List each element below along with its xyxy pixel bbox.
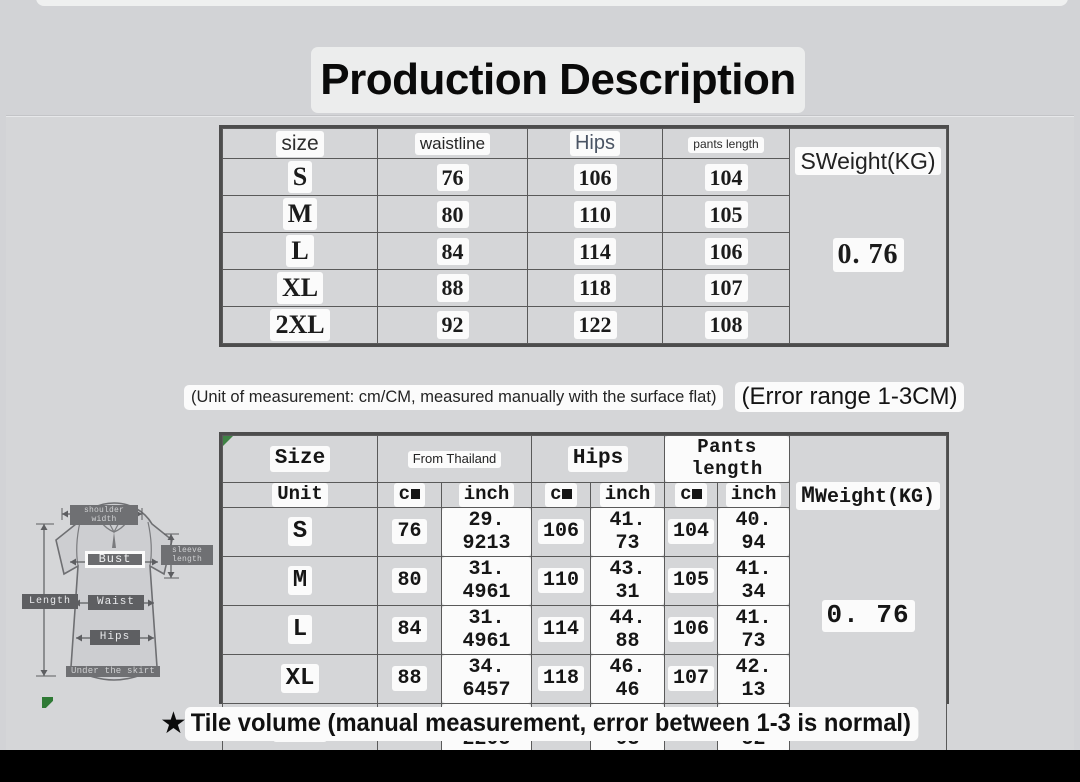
cell-pants-length: 107 [663,270,790,307]
cell-waist-inch: 31. 4961 [442,605,532,654]
header-cell-size: Size [223,436,378,483]
cell-hips-inch: 46. 46 [591,654,665,703]
hips-cm-value: 118 [538,666,584,691]
hips-cm-value: 110 [538,568,584,593]
table-header-row: Size From Thailand Hips Pants length MWe… [223,436,947,483]
cell-unit-hips-cm: c [532,482,591,507]
cell-pants-inch: 41. 34 [718,556,790,605]
waist-inch-value: 34. 6457 [442,655,531,703]
pants-inch-value: 42. 13 [718,655,789,703]
hips-cm-value: 106 [538,519,584,544]
header-cell-waistline: waistline [378,129,528,159]
hips-value: 114 [574,238,616,265]
size-table-cm: size waistline Hips pants length SWeight… [219,125,949,347]
cell-hips: 110 [528,196,663,233]
cell-size: XL [223,270,378,307]
unit-of-measurement-note: (Unit of measurement: cm/CM, measured ma… [184,385,723,410]
header-label-waistline: waistline [415,133,490,155]
unit-cm: c [394,483,426,507]
cell-unit-waist-cm: c [378,482,442,507]
top-edge-strip [36,0,1068,6]
cell-size: M [223,556,378,605]
header-label-weight: MWeight(KG) [796,482,940,510]
cell-hips: 106 [528,159,663,196]
cell-hips-inch: 44. 88 [591,605,665,654]
size-label: S [288,161,312,193]
cell-hips-inch: 41. 73 [591,507,665,556]
cell-size: S [223,159,378,196]
cell-pants-inch: 42. 13 [718,654,790,703]
size-label: 2XL [270,309,329,341]
product-description-page: Production Description size waistline Hi… [0,0,1080,782]
cell-size: XL [223,654,378,703]
diagram-label-bust: Bust [88,554,142,565]
cell-unit-pants-cm: c [665,482,718,507]
cell-hips: 114 [528,233,663,270]
diagram-label-shoulder-width: shoulder width [70,505,138,525]
waist-inch-value: 31. 4961 [442,557,531,605]
hips-value: 118 [574,274,616,301]
cell-waist-cm: 88 [378,654,442,703]
header-label-size: size [276,131,323,157]
garment-measurement-diagram: shoulder width sleeve length Bust Waist … [14,462,214,710]
pants-length-value: 106 [705,238,748,265]
header-cell-pants-length: Pants length [665,436,790,483]
hips-cm-value: 114 [538,617,584,642]
header-cell-pants-length: pants length [663,129,790,159]
hips-value: 122 [574,311,617,338]
header-label-pants-length: Pants length [665,436,789,482]
weight-value: 0. 76 [822,600,915,632]
waist-cm-value: 80 [392,568,426,593]
waistline-value: 76 [437,164,469,191]
cell-waist-inch: 31. 4961 [442,556,532,605]
waist-inch-value: 31. 4961 [442,606,531,654]
sleeve-length-line-2: length [172,555,202,564]
pants-length-value: 108 [705,311,748,338]
pants-inch-value: 41. 73 [718,606,789,654]
header-cell-from-thailand: From Thailand [378,436,532,483]
pants-inch-value: 41. 34 [718,557,789,605]
hips-value: 106 [574,164,617,191]
cell-waistline: 76 [378,159,528,196]
weight-value: 0. 76 [833,238,904,272]
cell-pants-cm: 104 [665,507,718,556]
cell-waist-inch: 29. 9213 [442,507,532,556]
waist-cm-value: 88 [392,666,426,691]
size-label: S [288,517,312,547]
cell-waist-cm: 76 [378,507,442,556]
cell-pants-length: 106 [663,233,790,270]
tile-volume-text: Tile volume (manual measurement, error b… [185,707,919,741]
cell-pants-length: 105 [663,196,790,233]
diagram-label-hips: Hips [90,630,140,645]
header-label-hips: Hips [568,446,628,472]
cell-hips-cm: 106 [532,507,591,556]
header-cell-hips: Hips [532,436,665,483]
pants-cm-value: 104 [668,519,714,544]
waistline-value: 88 [437,274,469,301]
waist-inch-value: 29. 9213 [442,508,531,556]
measurement-note-row: (Unit of measurement: cm/CM, measured ma… [184,382,964,412]
cell-hips: 122 [528,307,663,344]
header-cell-hips: Hips [528,129,663,159]
hips-inch-value: 41. 73 [591,508,664,556]
cell-hips-cm: 110 [532,556,591,605]
cell-waistline: 92 [378,307,528,344]
diagram-label-under-the-skirt: Under the skirt [66,666,160,677]
shoulder-width-line-1: shoulder [84,506,124,515]
cell-waist-inch: 34. 6457 [442,654,532,703]
cell-hips-inch: 43. 31 [591,556,665,605]
cell-unit-pants-inch: inch [718,482,790,507]
tile-volume-note: ★ Tile volume (manual measurement, error… [160,707,957,741]
cell-pants-inch: 41. 73 [718,605,790,654]
size-table-cm-inch: Size From Thailand Hips Pants length MWe… [219,432,949,704]
cell-unit-label: Unit [223,482,378,507]
cell-unit-hips-inch: inch [591,482,665,507]
unit-cm: c [545,483,577,507]
pants-cm-value: 107 [668,666,714,691]
cell-pants-cm: 105 [665,556,718,605]
header-label-size: Size [270,446,330,472]
size-label: L [286,235,313,267]
star-icon: ★ [160,709,187,739]
cell-size: S [223,507,378,556]
header-cell-size: size [223,129,378,159]
cell-waistline: 80 [378,196,528,233]
size-label: XL [277,272,323,304]
cell-waist-cm: 84 [378,605,442,654]
waist-cm-value: 84 [392,617,426,642]
pants-cm-value: 105 [668,568,714,593]
pants-length-value: 104 [705,164,748,191]
shoulder-width-line-2: width [91,515,116,524]
diagram-label-length: Length [22,594,78,609]
pants-length-value: 107 [705,274,748,301]
weight-rest: Weight(KG) [815,486,935,509]
cell-pants-cm: 106 [665,605,718,654]
waist-cm-value: 76 [392,519,426,544]
pants-inch-value: 40. 94 [718,508,789,556]
cell-waistline: 88 [378,270,528,307]
waistline-value: 80 [437,201,469,228]
weight-prefix: M [801,483,815,509]
weight-merged-cell: SWeight(KG) 0. 76 [790,129,947,344]
hips-inch-value: 46. 46 [591,655,664,703]
sleeve-length-line-1: sleeve [172,546,202,555]
table-header-row: size waistline Hips pants length SWeight… [223,129,947,159]
header-label-sweight: SWeight(KG) [795,147,940,175]
cell-unit-waist-inch: inch [442,482,532,507]
page-title-banner: Production Description [311,47,805,113]
pants-cm-value: 106 [668,617,714,642]
cell-pants-cm: 107 [665,654,718,703]
error-range-note: (Error range 1-3CM) [735,382,963,412]
cell-size: 2XL [223,307,378,344]
size-label: XL [281,664,320,694]
hips-inch-value: 44. 88 [591,606,664,654]
unit-label: Unit [272,483,328,507]
cell-size: L [223,605,378,654]
diagram-label-sleeve-length: sleeve length [161,545,213,565]
weight-merged-cell: MWeight(KG) 0. 76 [790,436,947,753]
waistline-value: 84 [437,238,469,265]
header-label-hips: Hips [570,131,620,156]
cell-hips-cm: 118 [532,654,591,703]
header-label-from-thailand: From Thailand [408,451,502,468]
cell-waistline: 84 [378,233,528,270]
pants-length-value: 105 [705,201,748,228]
unit-cm: c [675,483,707,507]
cell-waist-cm: 80 [378,556,442,605]
waistline-value: 92 [437,311,469,338]
unit-inch: inch [459,483,515,507]
cell-pants-length: 108 [663,307,790,344]
cell-pants-inch: 40. 94 [718,507,790,556]
size-label: M [283,198,318,230]
bottom-black-bar [0,750,1080,782]
cell-hips-cm: 114 [532,605,591,654]
page-title: Production Description [320,58,795,102]
size-label: L [288,615,312,645]
unit-inch: inch [726,483,782,507]
header-label-pants-length: pants length [688,137,763,153]
cell-hips: 118 [528,270,663,307]
size-label: M [288,566,312,596]
cell-pants-length: 104 [663,159,790,196]
unit-inch: inch [600,483,656,507]
cell-size: M [223,196,378,233]
hips-inch-value: 43. 31 [591,557,664,605]
hips-value: 110 [574,201,616,228]
cell-size: L [223,233,378,270]
diagram-label-waist: Waist [88,595,144,610]
